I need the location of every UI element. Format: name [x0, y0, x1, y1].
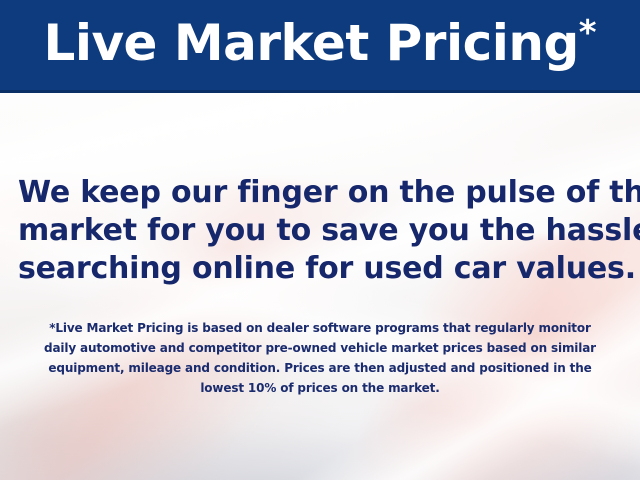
headline-line: market for you to save you the hassle of	[18, 212, 622, 250]
page-title: Live Market Pricing*	[43, 18, 596, 68]
headline-block: We keep our finger on the pulse of the m…	[0, 174, 640, 288]
headline-line: We keep our finger on the pulse of the	[18, 174, 622, 212]
disclaimer-line: lowest 10% of prices on the market.	[20, 378, 620, 398]
page-title-asterisk: *	[579, 13, 597, 53]
disclaimer-line: *Live Market Pricing is based on dealer …	[20, 318, 620, 338]
disclaimer-block: *Live Market Pricing is based on dealer …	[0, 318, 640, 398]
disclaimer-line: equipment, mileage and condition. Prices…	[20, 358, 620, 378]
page-title-text: Live Market Pricing	[43, 14, 578, 72]
headline-line: searching online for used car values.	[18, 250, 622, 288]
disclaimer-line: daily automotive and competitor pre-owne…	[20, 338, 620, 358]
header-bar: Live Market Pricing*	[0, 0, 640, 93]
content-area: We keep our finger on the pulse of the m…	[0, 93, 640, 480]
live-market-pricing-banner: Live Market Pricing* We keep our finger …	[0, 0, 640, 480]
